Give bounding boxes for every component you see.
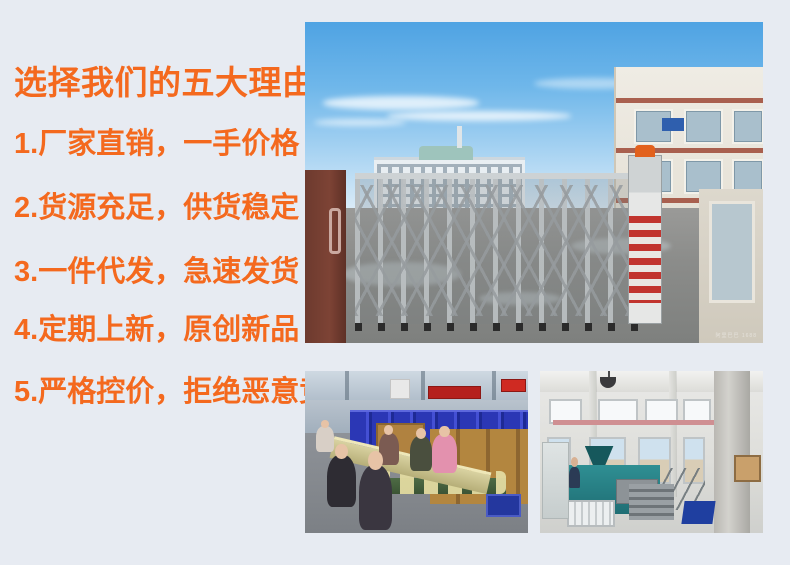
reason-index-5: 5. (14, 376, 38, 408)
reason-index-4: 4. (14, 314, 38, 346)
reason-text-2: 货源充足，供货稳定 (38, 192, 299, 224)
gate-head-unit (628, 155, 662, 324)
white-crate (567, 500, 616, 527)
worker (316, 426, 334, 452)
photo-molding-workshop (540, 371, 763, 533)
rooftop-structure (419, 146, 473, 160)
promo-poster: 选择我们的五大理由 1.厂家直销，一手价格 2.货源充足，供货稳定 3.一件代发… (0, 0, 790, 565)
worker (432, 434, 457, 473)
worker-head (321, 420, 329, 428)
cabinet (542, 442, 569, 519)
door-handle (329, 208, 341, 254)
guard-house-window (709, 201, 755, 303)
cloud (323, 96, 479, 109)
cloud (387, 111, 570, 120)
photo-production-line (305, 371, 528, 533)
building-window (684, 109, 723, 144)
worker-head (335, 444, 348, 460)
reason-text-3: 一件代发，急速发货 (38, 256, 299, 288)
photo-factory-exterior: 阿里巴巴 1688 (305, 22, 763, 343)
reason-item-2: 2.货源充足，供货稳定 (14, 194, 299, 223)
red-banner (501, 379, 525, 392)
gate-lattice (355, 185, 653, 315)
guard-house (699, 189, 763, 343)
mold-stack (629, 484, 674, 520)
production-line-scene (305, 371, 528, 533)
reason-text-4: 定期上新，原创新品 (38, 314, 299, 346)
worker (569, 467, 580, 488)
blue-crate (486, 494, 522, 517)
watermark: 阿里巴巴 1688 (715, 332, 757, 339)
reason-item-4: 4.定期上新，原创新品 (14, 316, 299, 345)
warning-beacon (635, 145, 656, 157)
worker-head (416, 428, 426, 439)
building-window (732, 109, 763, 144)
concrete-pillar (714, 371, 750, 533)
reason-text-1: 厂家直销，一手价格 (38, 128, 299, 160)
red-banner (428, 386, 481, 399)
reason-index-1: 1. (14, 128, 38, 160)
control-panel (734, 455, 760, 482)
worker-head (384, 425, 393, 435)
reasons-panel: 选择我们的五大理由 1.厂家直销，一手价格 2.货源充足，供货稳定 3.一件代发… (0, 0, 300, 565)
facade-band (616, 98, 763, 103)
worker-head (368, 451, 383, 470)
worker (410, 436, 432, 472)
molding-workshop-scene (540, 371, 763, 533)
worker-head (439, 426, 450, 438)
worker (327, 455, 356, 507)
retractable-gate (355, 173, 653, 323)
left-wall (305, 170, 346, 343)
blue-equipment (681, 501, 715, 524)
wall-pipe (553, 420, 714, 425)
blue-sign (662, 118, 684, 131)
reason-index-2: 2. (14, 192, 38, 224)
factory-exterior-scene: 阿里巴巴 1688 (305, 22, 763, 343)
cloud (314, 119, 406, 126)
gate-wheels (355, 323, 653, 331)
wall-sign (390, 379, 410, 399)
worker (359, 465, 392, 530)
warning-chevrons (629, 216, 661, 303)
reason-item-3: 3.一件代发，急速发货 (14, 258, 299, 287)
reason-item-1: 1.厂家直销，一手价格 (14, 130, 299, 159)
reason-index-3: 3. (14, 256, 38, 288)
roof-mast (457, 126, 462, 148)
page-title: 选择我们的五大理由 (14, 66, 316, 99)
